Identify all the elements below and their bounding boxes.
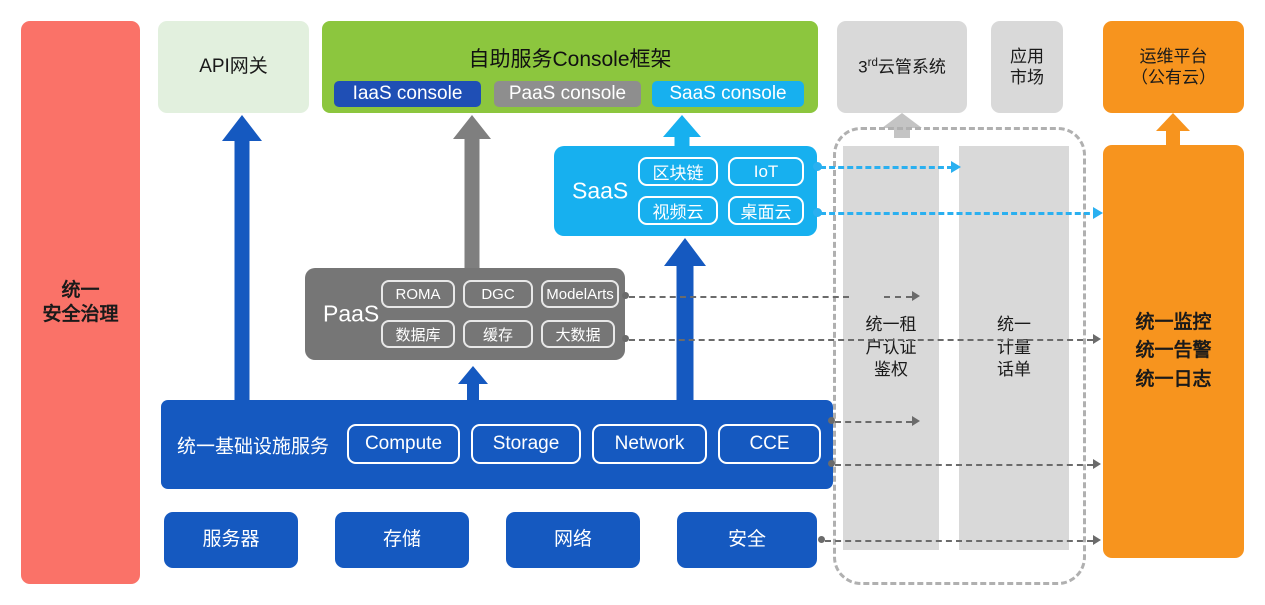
saas-item-desktop-cloud[interactable]: 桌面云	[728, 196, 804, 225]
unified-metering-billing-column: 统一 计量 话单	[959, 146, 1069, 550]
third-party-cloud-mgmt-label: 3rd云管系统	[858, 56, 946, 78]
infra-connector-dot-1	[828, 417, 835, 424]
paas-item-cache[interactable]: 缓存	[463, 320, 533, 348]
paas-item-dgc[interactable]: DGC	[463, 280, 533, 308]
console-frame-title: 自助服务Console框架	[322, 43, 818, 73]
resource-box-storage-label: 存储	[383, 528, 421, 552]
billing-line-1: 统一	[997, 314, 1031, 337]
unified-infrastructure-bar: 统一基础设施服务 Compute Storage Network CCE	[161, 400, 833, 489]
paas-item-cache-label: 缓存	[483, 324, 513, 345]
iaas-console-chip[interactable]: IaaS console	[334, 81, 481, 107]
paas-item-modelarts-label: ModelArts	[546, 286, 614, 303]
paas-item-modelarts[interactable]: ModelArts	[541, 280, 619, 308]
paas-item-database[interactable]: 数据库	[381, 320, 455, 348]
security-line-2: 安全治理	[42, 303, 118, 327]
saas-item-blockchain[interactable]: 区块链	[638, 157, 718, 186]
iaas-console-label: IaaS console	[353, 83, 463, 105]
saas-label: SaaS	[572, 178, 628, 205]
ops-side-line-2: 统一告警	[1135, 337, 1211, 366]
infra-item-storage[interactable]: Storage	[471, 424, 581, 464]
saas-to-billing-line	[820, 166, 953, 169]
arrow-infra-to-saas	[664, 238, 706, 404]
resources-to-ops-arrowhead	[1093, 535, 1101, 545]
api-gateway-box: API网关	[158, 21, 309, 113]
paas-item-database-label: 数据库	[395, 324, 440, 345]
third-party-superscript: rd	[868, 57, 878, 69]
resources-to-ops-line	[825, 540, 1093, 542]
self-service-console-frame: 自助服务Console框架 IaaS console PaaS console …	[322, 21, 818, 113]
unified-metering-billing-label: 统一 计量 话单	[997, 314, 1031, 383]
security-governance-panel: 统一 安全治理	[21, 21, 140, 584]
paas-to-auth-arrowhead	[912, 291, 920, 301]
saas-to-ops-line	[820, 212, 1099, 215]
infra-item-compute-label: Compute	[365, 433, 442, 455]
infra-item-network-label: Network	[615, 433, 685, 455]
unified-tenant-auth-column: 统一租 户认证 鉴权	[843, 146, 939, 550]
auth-line-3: 鉴权	[866, 359, 917, 382]
paas-to-auth-line	[629, 296, 849, 298]
paas-to-auth-line-2	[884, 296, 912, 298]
paas-console-label: PaaS console	[509, 83, 626, 105]
ops-platform-side-label: 统一监控 统一告警 统一日志	[1135, 309, 1211, 395]
saas-console-label: SaaS console	[669, 83, 786, 105]
security-line-1: 统一	[42, 279, 118, 303]
saas-console-chip[interactable]: SaaS console	[652, 81, 804, 107]
resource-box-server: 服务器	[164, 512, 298, 568]
saas-item-iot[interactable]: IoT	[728, 157, 804, 186]
paas-panel: PaaS ROMA DGC ModelArts 数据库 缓存 大数据	[305, 268, 625, 360]
resource-box-security: 安全	[677, 512, 817, 568]
infra-connector-dot-2	[828, 460, 835, 467]
paas-connector-dot-2	[622, 335, 629, 342]
api-gateway-label: API网关	[199, 55, 268, 79]
app-market-line-2: 市场	[1010, 67, 1044, 88]
ops-side-line-3: 统一日志	[1135, 366, 1211, 395]
third-party-suffix: 云管系统	[878, 58, 946, 77]
paas-label: PaaS	[323, 301, 379, 328]
resources-connector-dot	[818, 536, 825, 543]
billing-line-3: 话单	[997, 359, 1031, 382]
paas-item-roma-label: ROMA	[396, 286, 441, 303]
paas-item-roma[interactable]: ROMA	[381, 280, 455, 308]
paas-to-ops-arrowhead	[1093, 334, 1101, 344]
resource-box-storage: 存储	[335, 512, 469, 568]
paas-item-dgc-label: DGC	[481, 286, 514, 303]
paas-item-bigdata-label: 大数据	[555, 324, 600, 345]
third-party-prefix: 3	[858, 58, 867, 77]
infra-item-network[interactable]: Network	[592, 424, 707, 464]
infra-item-cce-label: CCE	[749, 433, 789, 455]
saas-panel: SaaS 区块链 IoT 视频云 桌面云	[554, 146, 817, 236]
ops-platform-public-cloud-box: 运维平台 （公有云）	[1103, 21, 1244, 113]
arrow-saas-to-console	[662, 115, 702, 150]
ops-side-line-1: 统一监控	[1135, 309, 1211, 338]
security-governance-label: 统一 安全治理	[42, 279, 118, 327]
infra-to-ops-arrowhead	[1093, 459, 1101, 469]
app-market-box: 应用 市场	[991, 21, 1063, 113]
arrow-infra-to-api-gateway	[222, 115, 262, 405]
resource-box-network-label: 网络	[554, 528, 592, 552]
app-market-label: 应用 市场	[1010, 46, 1044, 89]
saas-item-video-cloud[interactable]: 视频云	[638, 196, 718, 225]
arrow-paas-to-console	[452, 115, 492, 272]
resource-box-security-label: 安全	[728, 528, 766, 552]
app-market-line-1: 应用	[1010, 46, 1044, 67]
infra-item-storage-label: Storage	[493, 433, 560, 455]
ops-platform-side-panel: 统一监控 统一告警 统一日志	[1103, 145, 1244, 558]
unified-tenant-auth-label: 统一租 户认证 鉴权	[866, 314, 917, 383]
paas-to-ops-line	[629, 339, 1093, 341]
auth-line-1: 统一租	[866, 314, 917, 337]
saas-to-billing-arrowhead	[951, 161, 961, 173]
saas-item-blockchain-label: 区块链	[653, 159, 704, 184]
infra-to-auth-line	[835, 421, 912, 423]
unified-infrastructure-label: 统一基础设施服务	[177, 431, 329, 458]
infra-item-compute[interactable]: Compute	[347, 424, 460, 464]
infra-to-ops-line	[835, 464, 1093, 466]
architecture-diagram: 统一 安全治理 API网关 自助服务Console框架 IaaS console…	[0, 0, 1265, 605]
arrow-infra-to-paas	[455, 366, 491, 404]
resource-box-server-label: 服务器	[202, 528, 259, 552]
saas-item-iot-label: IoT	[754, 162, 779, 182]
paas-item-bigdata[interactable]: 大数据	[541, 320, 615, 348]
paas-console-chip[interactable]: PaaS console	[494, 81, 641, 107]
saas-to-ops-arrowhead	[1093, 207, 1103, 219]
third-party-cloud-mgmt-box: 3rd云管系统	[837, 21, 967, 113]
paas-connector-dot-1	[622, 292, 629, 299]
infra-to-auth-arrowhead	[912, 416, 920, 426]
infra-item-cce[interactable]: CCE	[718, 424, 821, 464]
arrow-into-ops-platform	[1153, 113, 1193, 145]
resource-box-network: 网络	[506, 512, 640, 568]
ops-platform-top-label: 运维平台 （公有云）	[1131, 46, 1216, 89]
saas-item-desktop-cloud-label: 桌面云	[741, 198, 792, 223]
ops-platform-top-line-2: （公有云）	[1131, 67, 1216, 88]
ops-platform-top-line-1: 运维平台	[1131, 46, 1216, 67]
saas-item-video-cloud-label: 视频云	[653, 198, 704, 223]
